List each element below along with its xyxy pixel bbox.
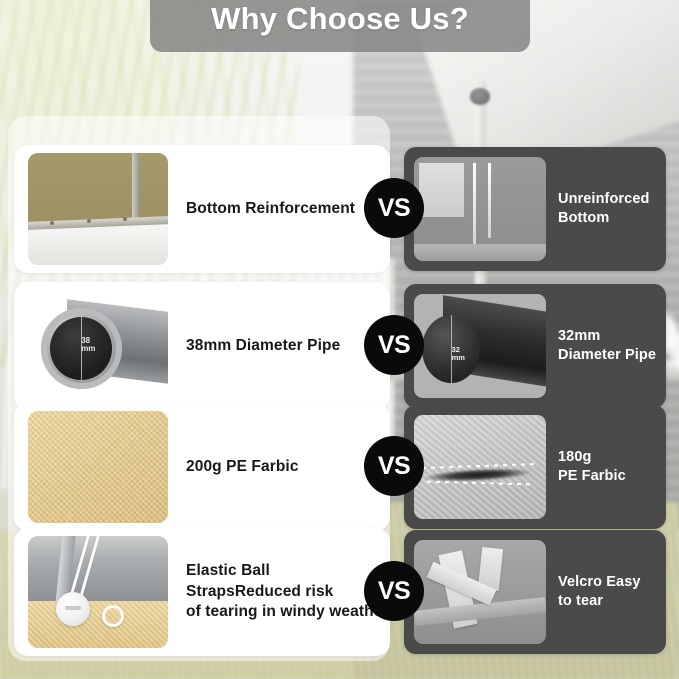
pro-card-elastic-ball-straps[interactable]: Elastic Ball StrapsReduced risk of teari… xyxy=(14,528,390,656)
elastic-ball-straps-photo xyxy=(28,536,168,648)
pipe-dimension-unit: mm xyxy=(452,354,465,362)
comparison-row: 200g PE Farbic VS 180g PE Farbic xyxy=(0,403,679,531)
con-label-line: Velcro Easy xyxy=(558,573,641,592)
pro-label: 200g PE Farbic xyxy=(186,457,299,478)
pro-label: 38mm Diameter Pipe xyxy=(186,336,340,357)
38mm-pipe-photo: 38 mm xyxy=(28,290,168,402)
con-label-line: 180g xyxy=(558,448,626,467)
con-label-line: to tear xyxy=(558,592,641,611)
con-label: 32mm Diameter Pipe xyxy=(558,327,656,365)
pipe-dimension-label: 32 mm xyxy=(452,346,465,362)
pipe-dimension-unit: mm xyxy=(81,345,95,353)
comparison-row: Bottom Reinforcement VS Unreinforced xyxy=(0,145,679,273)
vs-badge-label: VS xyxy=(378,577,410,606)
pro-card-38mm-pipe[interactable]: 38 mm 38mm Diameter Pipe xyxy=(14,282,390,410)
comparison-row: 38 mm 38mm Diameter Pipe VS xyxy=(0,282,679,410)
pro-label: Bottom Reinforcement xyxy=(186,199,355,220)
vs-badge: VS xyxy=(364,178,424,238)
pro-label: Elastic Ball StrapsReduced risk of teari… xyxy=(186,561,389,624)
con-card-32mm-pipe[interactable]: 32 mm 32mm Diameter Pipe xyxy=(404,284,666,408)
con-label-line: Bottom xyxy=(558,209,649,228)
vs-badge-label: VS xyxy=(378,452,410,481)
pro-label-line: Bottom Reinforcement xyxy=(186,199,355,220)
vs-badge-label: VS xyxy=(378,194,410,223)
pro-label-line: Elastic Ball xyxy=(186,561,389,582)
pro-label-line: 200g PE Farbic xyxy=(186,457,299,478)
reinforced-bottom-rail-photo xyxy=(28,153,168,265)
vs-badge-label: VS xyxy=(378,331,410,360)
con-label-line: PE Farbic xyxy=(558,467,626,486)
180g-pe-fabric-torn-photo xyxy=(414,415,546,519)
con-card-velcro[interactable]: Velcro Easy to tear xyxy=(404,530,666,654)
pipe-dimension-label: 38 mm xyxy=(81,337,95,354)
infographic-canvas: Why Choose Us? Bottom Reinforcement xyxy=(0,0,679,679)
pro-card-200g-fabric[interactable]: 200g PE Farbic xyxy=(14,403,390,531)
pro-label-line: StrapsReduced risk xyxy=(186,582,389,603)
pro-card-bottom-reinforcement[interactable]: Bottom Reinforcement xyxy=(14,145,390,273)
200g-pe-fabric-swatch-photo xyxy=(28,411,168,523)
con-label: Unreinforced Bottom xyxy=(558,190,649,228)
32mm-pipe-photo: 32 mm xyxy=(414,294,546,398)
velcro-strips-photo xyxy=(414,540,546,644)
con-label-line: Diameter Pipe xyxy=(558,346,656,365)
con-label: Velcro Easy to tear xyxy=(558,573,641,611)
con-label-line: 32mm xyxy=(558,327,656,346)
pro-label-line: of tearing in windy weather xyxy=(186,602,389,623)
comparison-row: Elastic Ball StrapsReduced risk of teari… xyxy=(0,528,679,656)
con-card-unreinforced-bottom[interactable]: Unreinforced Bottom xyxy=(404,147,666,271)
con-card-180g-fabric[interactable]: 180g PE Farbic xyxy=(404,405,666,529)
con-label-line: Unreinforced xyxy=(558,190,649,209)
con-label: 180g PE Farbic xyxy=(558,448,626,486)
vs-badge: VS xyxy=(364,561,424,621)
comparison-list: Bottom Reinforcement VS Unreinforced xyxy=(0,0,679,679)
vs-badge: VS xyxy=(364,436,424,496)
pro-label-line: 38mm Diameter Pipe xyxy=(186,336,340,357)
unreinforced-bottom-photo xyxy=(414,157,546,261)
vs-badge: VS xyxy=(364,315,424,375)
